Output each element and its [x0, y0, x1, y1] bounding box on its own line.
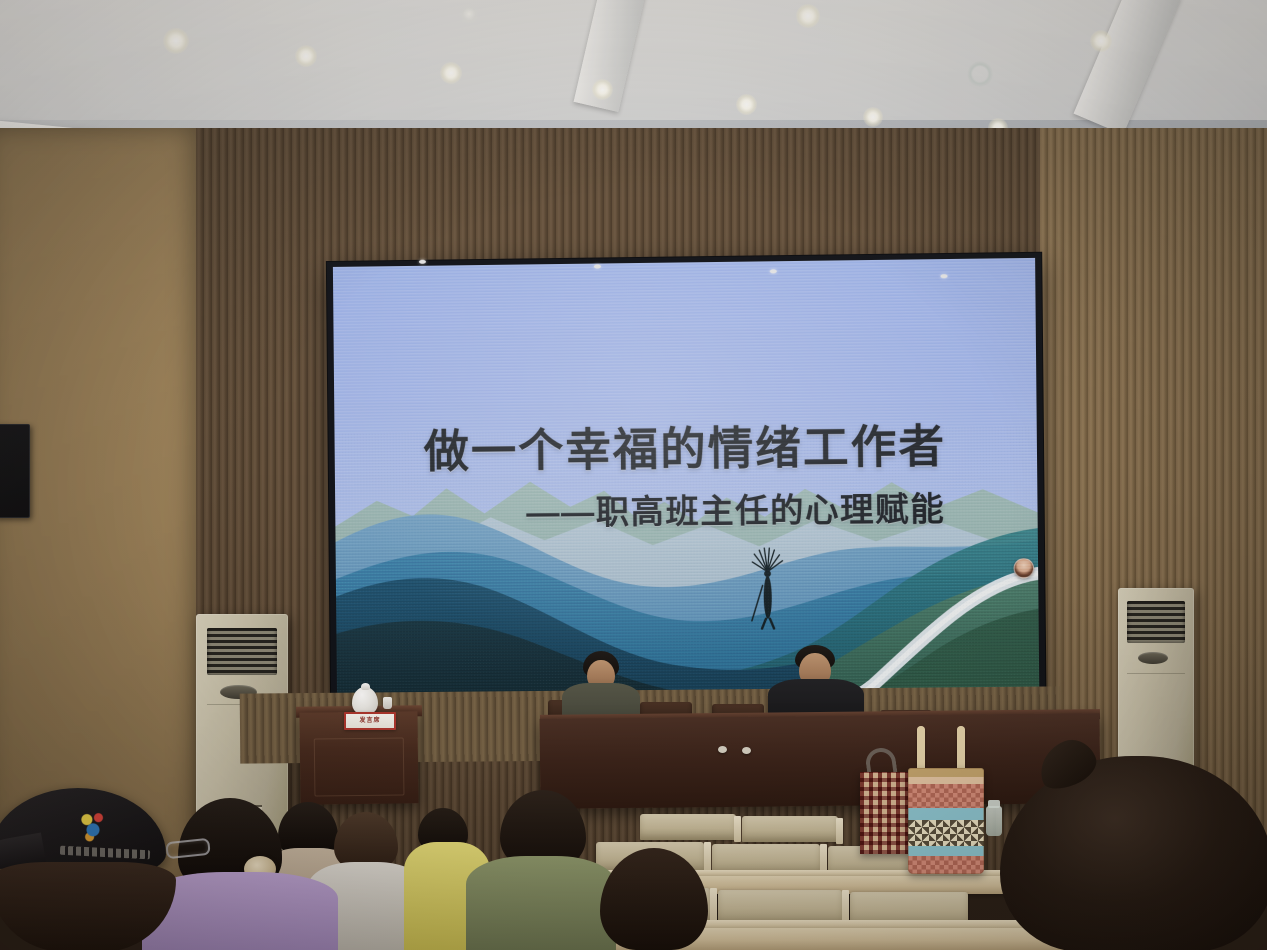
- downlight-icon: [295, 45, 317, 67]
- downlight-icon: [163, 28, 189, 54]
- downlight-icon: [796, 4, 820, 28]
- teacup-icon: [383, 697, 392, 709]
- downlight-icon: [1090, 30, 1112, 52]
- downlight-icon: [440, 62, 462, 84]
- slide-subtitle: ——职高班主任的心理赋能: [335, 481, 1038, 536]
- wall-mounted-display: [0, 424, 30, 518]
- teapot-icon: [352, 687, 378, 715]
- downlight-icon: [967, 61, 993, 87]
- basket-handle: [917, 726, 925, 772]
- downlight-icon: [592, 79, 613, 100]
- seat-divider: [842, 890, 849, 924]
- basket-diamond-band: [908, 820, 984, 846]
- seat-divider: [704, 842, 711, 872]
- woven-basket-bag: [908, 768, 984, 874]
- name-card-text: 发言席: [346, 714, 394, 728]
- screen-mount-dot: [940, 274, 947, 278]
- ac-vent-icon: [207, 628, 277, 675]
- table-fitting: [718, 746, 727, 753]
- screen-mount-dot: [594, 264, 601, 268]
- seat-back: [742, 816, 838, 842]
- basket-handle: [957, 726, 965, 772]
- downlight-icon: [459, 4, 479, 24]
- ac-vent-icon: [1127, 601, 1185, 643]
- teapot-lid: [361, 683, 370, 690]
- plaid-handbag: [860, 772, 910, 854]
- seat-back: [640, 814, 736, 840]
- basket-check-band: [908, 856, 984, 874]
- screen-mount-dot: [770, 269, 777, 273]
- water-bottle: [986, 806, 1002, 836]
- slide-title: 做一个幸福的情绪工作者: [334, 408, 1037, 480]
- ac-seam: [1127, 673, 1185, 674]
- downlight-icon: [736, 94, 757, 115]
- auditorium-photo: 做一个幸福的情绪工作者 ——职高班主任的心理赋能: [0, 0, 1267, 950]
- lectern-name-card: 发言席: [344, 712, 396, 730]
- screen-mount-dot: [419, 260, 426, 264]
- cap-logo-icon: [76, 810, 110, 842]
- downlight-icon: [863, 107, 883, 127]
- led-screen: 做一个幸福的情绪工作者 ——职高班主任的心理赋能: [327, 253, 1046, 710]
- table-fitting: [742, 747, 751, 754]
- seat-back: [718, 890, 842, 924]
- seat-divider: [734, 816, 741, 842]
- attendee-torso: [466, 856, 616, 950]
- basket-check-band: [908, 784, 984, 808]
- ac-brand-badge: [1138, 652, 1168, 665]
- seat-divider: [710, 888, 717, 922]
- seat-divider: [836, 818, 843, 844]
- slide-surface: 做一个幸福的情绪工作者 ——职高班主任的心理赋能: [333, 258, 1039, 704]
